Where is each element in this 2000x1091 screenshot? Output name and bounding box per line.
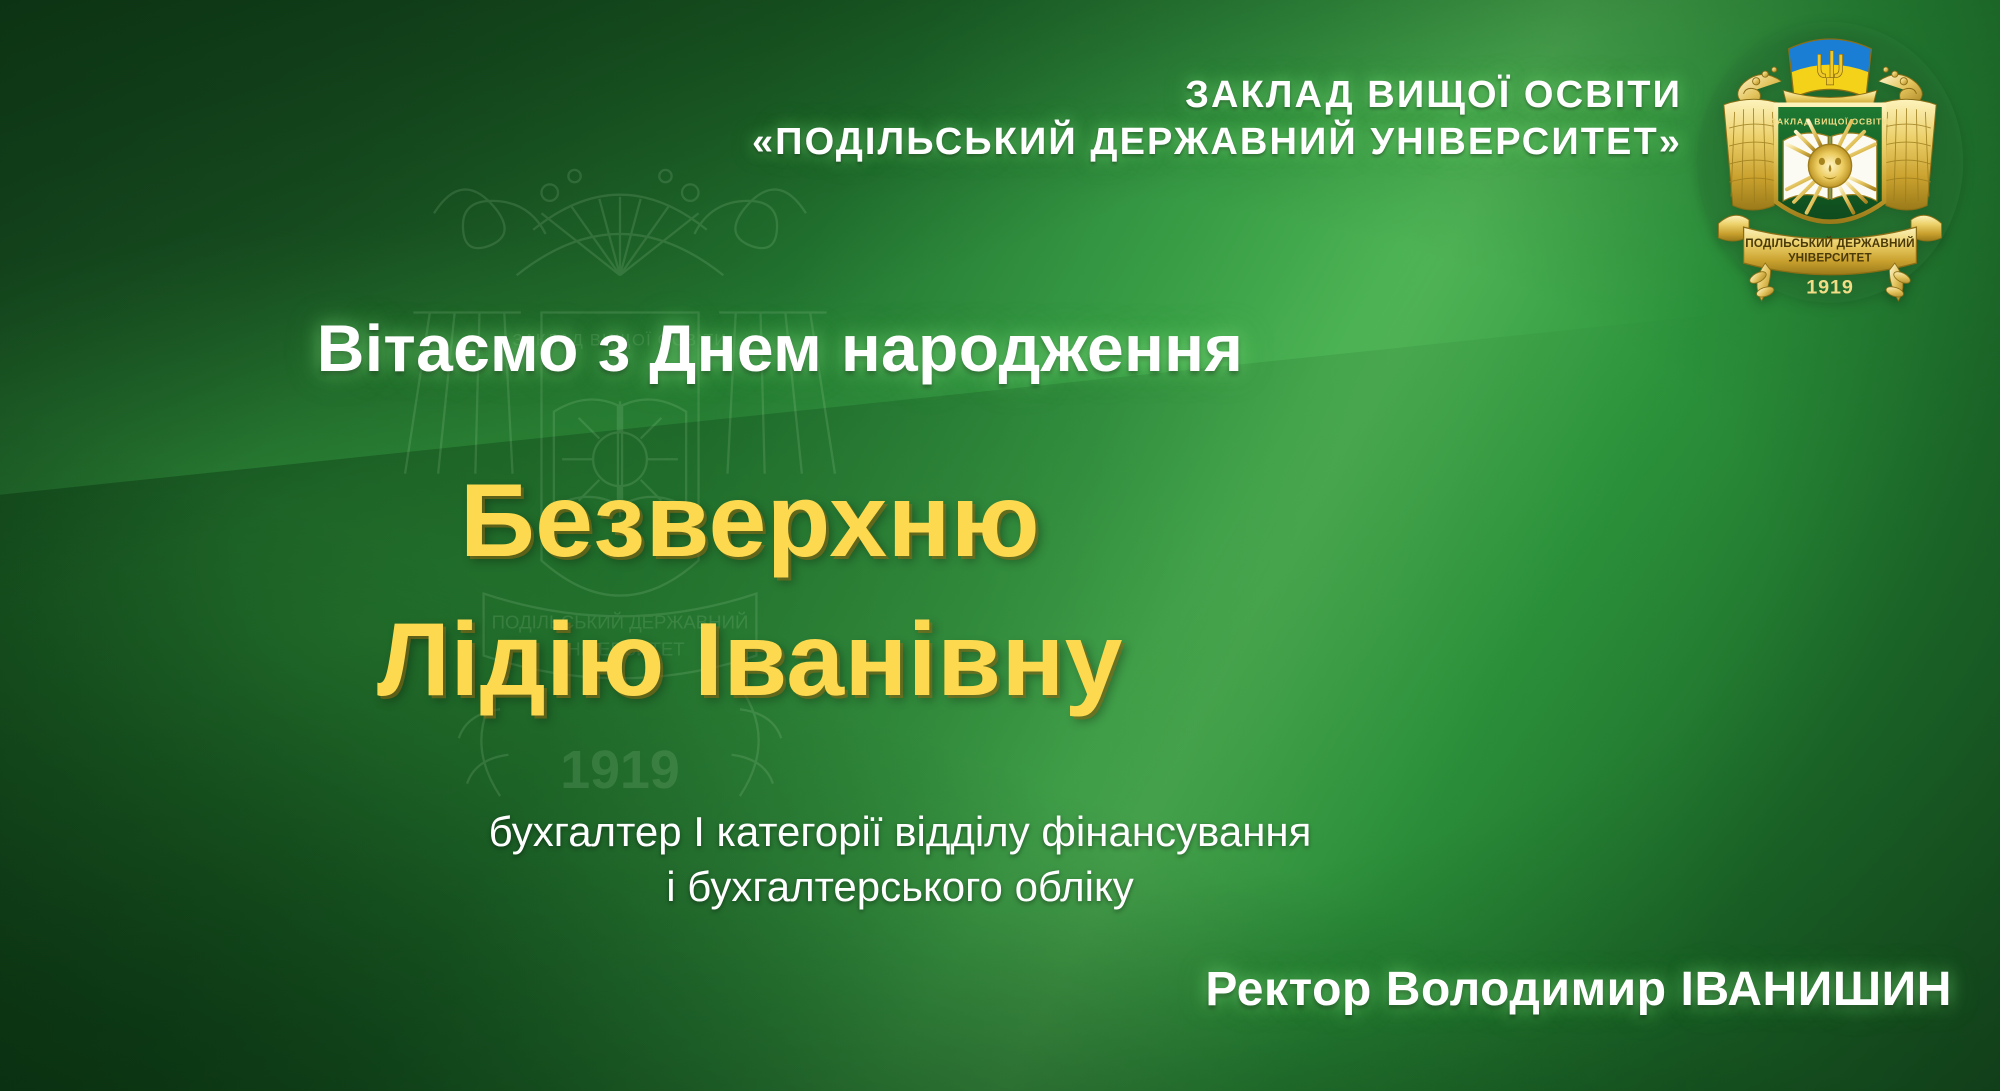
university-coat-of-arms-icon: ЗАКЛАД ВИЩОЇ ОСВІТИ <box>1695 18 1965 303</box>
institution-header: ЗАКЛАД ВИЩОЇ ОСВІТИ «ПОДІЛЬСЬКИЙ ДЕРЖАВН… <box>752 74 1682 165</box>
honoree-surname: Безверхню <box>0 455 1500 588</box>
birthday-greeting-card: ЗАКЛАД ВИЩОЇ ОСВІТИ ПОДІЛЬСЬКИЙ ДЕРЖАВНИ… <box>0 0 2000 1091</box>
honoree-name: Безверхню Лідію Іванівну <box>0 455 1500 727</box>
crest-ribbon-line1: ПОДІЛЬСЬКИЙ ДЕРЖАВНИЙ <box>1745 237 1914 250</box>
institution-header-line1: ЗАКЛАД ВИЩОЇ ОСВІТИ <box>752 74 1682 117</box>
honoree-position-line2: і бухгалтерського обліку <box>0 860 1800 915</box>
ukraine-flag-trident-icon <box>1789 39 1872 98</box>
honoree-position: бухгалтер I категорії відділу фінансуван… <box>0 805 1800 914</box>
crest-ribbon-line2: УНІВЕРСИТЕТ <box>1788 251 1872 264</box>
honoree-position-line1: бухгалтер I категорії відділу фінансуван… <box>0 805 1800 860</box>
rector-signature: Ректор Володимир ІВАНИШИН <box>1205 962 1952 1017</box>
honoree-given-patronymic: Лідію Іванівну <box>0 594 1500 727</box>
crest-year: 1919 <box>1806 277 1854 299</box>
greeting-title: Вітаємо з Днем народження <box>0 310 1560 386</box>
institution-header-line2: «ПОДІЛЬСЬКИЙ ДЕРЖАВНИЙ УНІВЕРСИТЕТ» <box>752 121 1682 164</box>
